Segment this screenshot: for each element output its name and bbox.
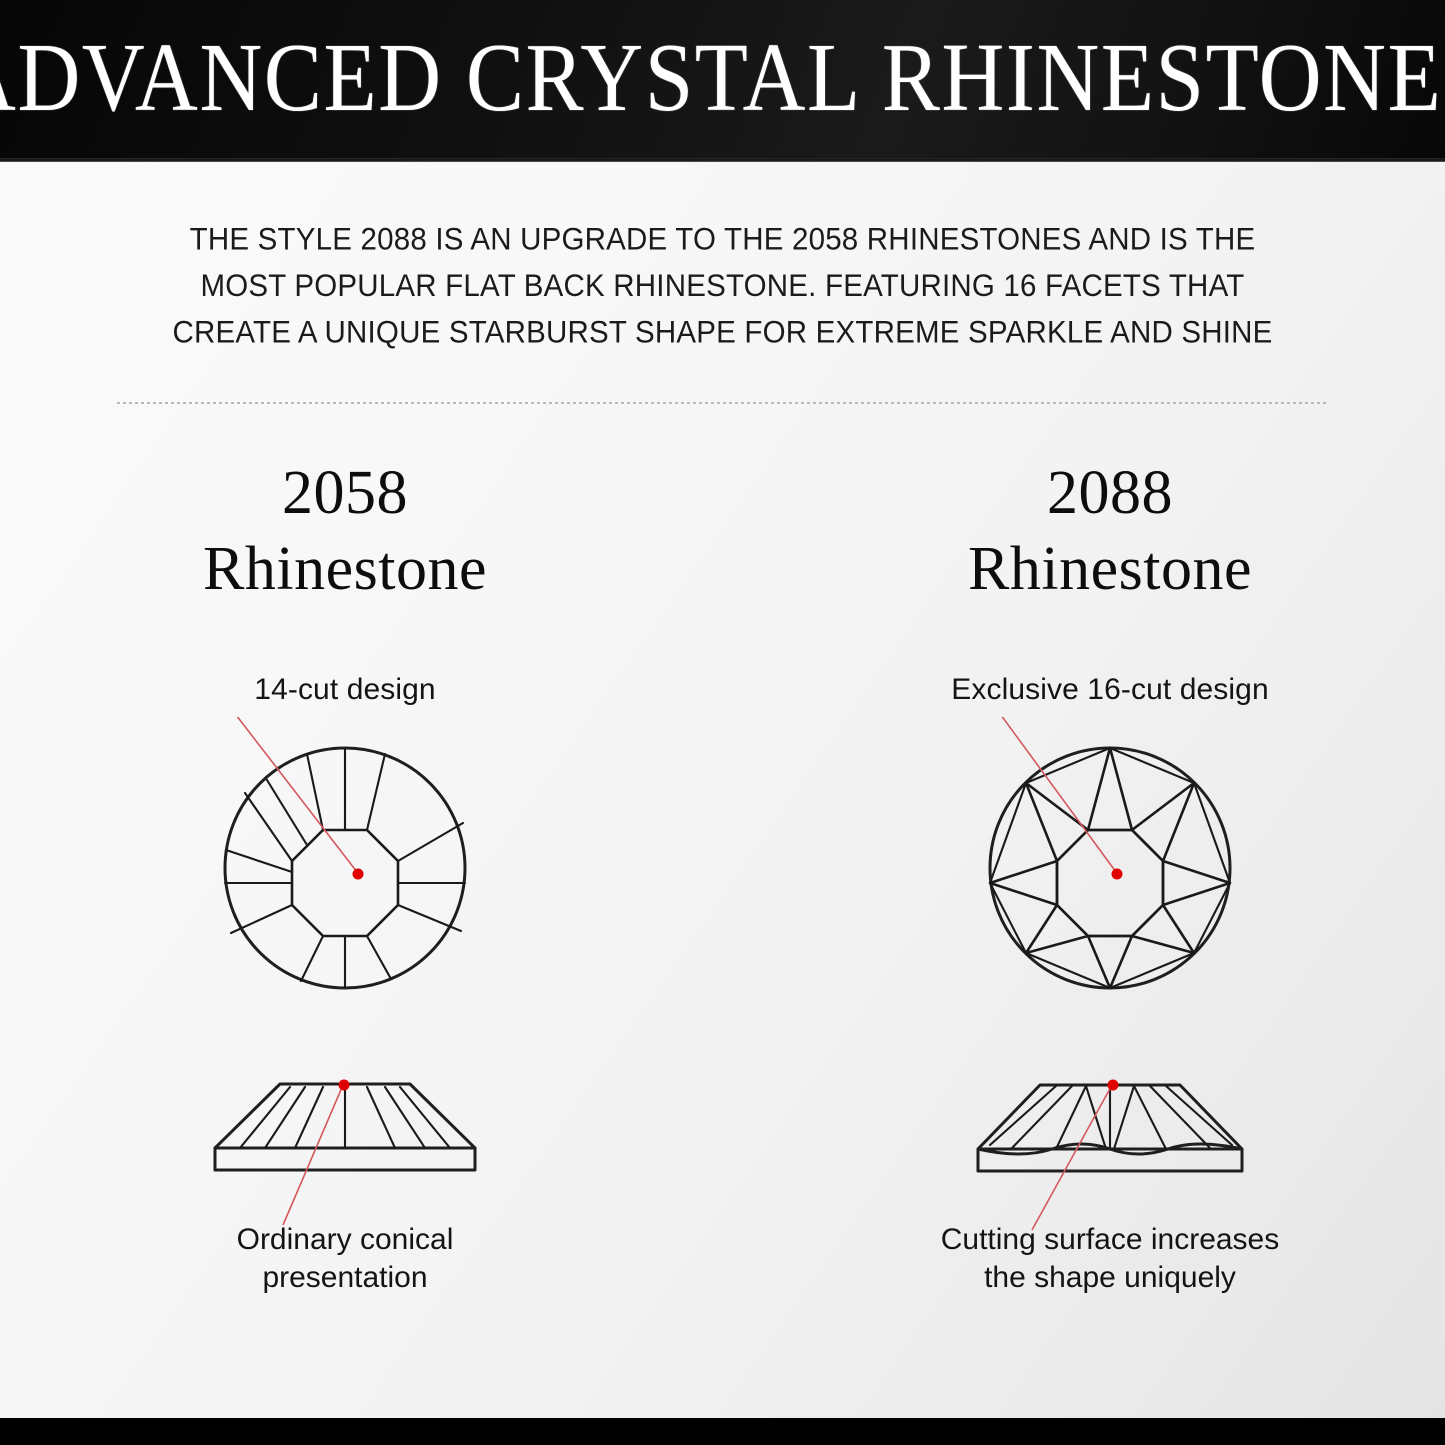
- callout-top-2088: Exclusive 16-cut design: [790, 673, 1430, 707]
- v-facet-lines-2088: [990, 1084, 1232, 1149]
- rhinestone-facets-2058: [225, 748, 465, 988]
- rim-chords-2088: [990, 748, 1230, 988]
- side-view-svg-2088: [960, 1065, 1260, 1240]
- intro-line-2: MOST POPULAR FLAT BACK RHINESTONE. FEATU…: [110, 262, 1335, 308]
- rhinestone-facets-2088: [990, 748, 1230, 988]
- page-title: ADVANCED CRYSTAL RHINESTONES: [0, 23, 1445, 135]
- base-slab-2058: [215, 1148, 475, 1170]
- base-slab-2088: [978, 1149, 1242, 1171]
- column-title-2088: 2088 Rhinestone: [790, 455, 1430, 607]
- side-view-svg-2058: [195, 1065, 495, 1240]
- top-view-svg-2088: [960, 717, 1260, 995]
- diagram-side-view-2058: [25, 1065, 665, 1195]
- diagram-side-view-2088: [790, 1065, 1430, 1195]
- intro-paragraph: THE STYLE 2088 IS AN UPGRADE TO THE 2058…: [110, 216, 1335, 355]
- header-underline: [0, 158, 1445, 162]
- intro-line-1: THE STYLE 2088 IS AN UPGRADE TO THE 2058…: [110, 216, 1335, 262]
- pointer-dot-2088: [1112, 869, 1123, 880]
- column-title-number-2088: 2088: [790, 455, 1430, 531]
- footer-bar: [0, 1418, 1445, 1445]
- comparison-column-2058: 2058 Rhinestone 14-cut design: [25, 455, 665, 1297]
- callout-bottom-line2-2058: presentation: [25, 1259, 665, 1297]
- pointer-dot-side-2088: [1108, 1080, 1119, 1091]
- conical-profile-2058: [215, 1084, 475, 1170]
- header-banner: ADVANCED CRYSTAL RHINESTONES: [0, 0, 1445, 158]
- column-title-number-2058: 2058: [25, 455, 665, 531]
- diagram-top-view-2088: [790, 717, 1430, 995]
- comparison-column-2088: 2088 Rhinestone Exclusive 16-cut design: [790, 455, 1430, 1297]
- intro-line-3: CREATE A UNIQUE STARBURST SHAPE FOR EXTR…: [110, 309, 1335, 355]
- column-title-word-2058: Rhinestone: [25, 531, 665, 607]
- faceted-profile-2088: [978, 1084, 1242, 1171]
- column-title-2058: 2058 Rhinestone: [25, 455, 665, 607]
- table-octagon-2058: [292, 830, 398, 936]
- callout-bottom-line2-2088: the shape uniquely: [790, 1259, 1430, 1297]
- pointer-dot-side-2058: [339, 1080, 350, 1091]
- section-divider: [117, 402, 1329, 404]
- top-view-svg-2058: [195, 717, 495, 995]
- pointer-line-side-2088: [1032, 1085, 1112, 1230]
- callout-top-2058: 14-cut design: [25, 673, 665, 707]
- diagram-top-view-2058: [25, 717, 665, 995]
- column-title-word-2088: Rhinestone: [790, 531, 1430, 607]
- pointer-dot-2058: [353, 869, 364, 880]
